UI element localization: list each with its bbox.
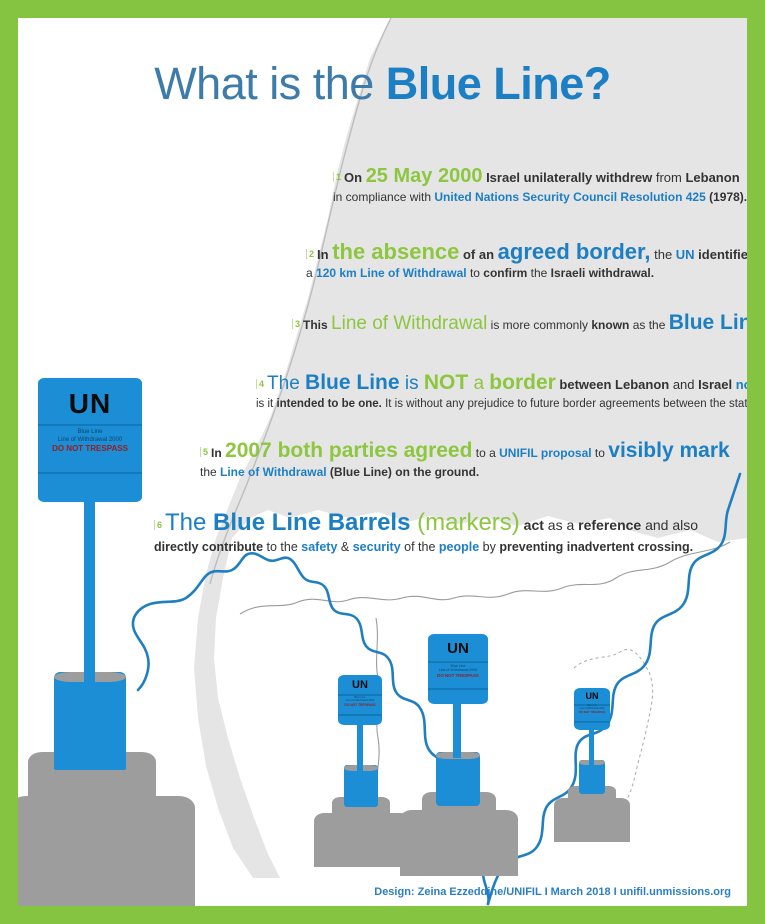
page-title: What is the Blue Line? bbox=[18, 58, 747, 110]
blue-line-barrel-large: UN Blue Line Line of Withdrawal 2000 DO … bbox=[18, 366, 198, 906]
f6g: and also bbox=[641, 517, 698, 533]
f5d: UNIFIL proposal bbox=[499, 446, 591, 460]
fact-2-line-2: a 120 km Line of Withdrawal to confirm t… bbox=[306, 266, 747, 281]
f4d: NOT bbox=[424, 371, 468, 394]
f4j: nor bbox=[732, 377, 747, 392]
fact-number-1: 1 bbox=[333, 172, 341, 182]
f1h: (1978). bbox=[706, 190, 747, 204]
barrel-warning-line-4c: DO NOT TRESPASS bbox=[574, 711, 610, 714]
f1c: Israel unilaterally withdrew bbox=[482, 170, 652, 185]
f2b: the absence bbox=[332, 239, 459, 264]
f5c: to a bbox=[472, 446, 499, 460]
f1b: 25 May 2000 bbox=[366, 165, 483, 187]
f3e: as the bbox=[629, 318, 668, 332]
f3a: This bbox=[303, 318, 331, 332]
f6p: preventing inadvertent crossing. bbox=[499, 540, 693, 554]
barrel-rib-bottom-4 bbox=[574, 721, 610, 723]
blue-line-barrel-small: UN Blue Line Line of Withdrawal 2000 DO … bbox=[308, 673, 408, 873]
f2l: the bbox=[527, 266, 550, 280]
fact-6-line-2: directly contribute to the safety & secu… bbox=[154, 539, 698, 555]
barrel-pole-1 bbox=[84, 486, 95, 682]
fact-number-3: 3 bbox=[292, 319, 300, 329]
barrel-warning-2: Blue Line Line of Withdrawal 2000 DO NOT… bbox=[428, 664, 488, 678]
fact-block-3: 3This Line of Withdrawal is more commonl… bbox=[292, 310, 747, 337]
f4c: is bbox=[400, 373, 424, 394]
f4k: is it bbox=[256, 398, 276, 410]
f2j: to bbox=[467, 266, 484, 280]
barrel-warning-4: Blue Line Line of Withdrawal 2000 DO NOT… bbox=[574, 705, 610, 714]
fact-4-line-2: is it intended to be one. It is without … bbox=[256, 397, 747, 412]
f2m: Israeli withdrawal. bbox=[551, 266, 654, 280]
f5g: the bbox=[200, 465, 220, 479]
f3f: Blue Line. bbox=[669, 311, 747, 334]
barrel-rib-top-2 bbox=[428, 661, 488, 663]
fact-1-line-2: in compliance with United Nations Securi… bbox=[333, 190, 747, 205]
f5i: (Blue Line) bbox=[327, 465, 392, 479]
fact-block-4: 4The Blue Line is NOT a border between L… bbox=[256, 370, 747, 412]
barrel-sign-4: UN Blue Line Line of Withdrawal 2000 DO … bbox=[574, 688, 610, 730]
f6k: & bbox=[337, 540, 352, 554]
barrel-un-text-2: UN bbox=[428, 640, 488, 657]
f2g: identified bbox=[695, 247, 747, 262]
f4l: intended to be one. bbox=[276, 398, 381, 410]
f5e: to bbox=[592, 446, 609, 460]
fact-4-line-1: 4The Blue Line is NOT a border between L… bbox=[256, 370, 747, 397]
f2f: UN bbox=[676, 247, 695, 262]
barrel-pole-3 bbox=[357, 717, 363, 771]
f6d: act bbox=[520, 517, 544, 533]
f3d: known bbox=[591, 318, 629, 332]
f6e: as a bbox=[544, 517, 578, 533]
barrel-warning-3: Blue Line Line of Withdrawal 2000 DO NOT… bbox=[338, 696, 382, 707]
fact-block-2: 2In the absence of an agreed border, the… bbox=[306, 238, 747, 282]
f4e: a bbox=[468, 373, 489, 394]
barrel-warning-line-1b: Line of Withdrawal 2000 bbox=[38, 437, 142, 445]
f2a: In bbox=[317, 247, 332, 262]
f6m: of the bbox=[401, 540, 439, 554]
f2c: of an bbox=[459, 247, 497, 262]
blue-line-barrel-smallest: UN Blue Line Line of Withdrawal 2000 DO … bbox=[546, 686, 636, 856]
f2e: the bbox=[650, 247, 675, 262]
f1e: Lebanon bbox=[685, 170, 739, 185]
f6c: (markers) bbox=[410, 509, 519, 536]
barrel-rib-bottom-2 bbox=[428, 688, 488, 690]
f6i: to the bbox=[263, 540, 301, 554]
barrel-warning-line-3c: DO NOT TRESPASS bbox=[338, 703, 382, 707]
f5f: visibly mark bbox=[608, 439, 729, 462]
fact-number-5: 5 bbox=[200, 447, 208, 457]
barrel-warning-line-1c: DO NOT TRESPASS bbox=[38, 444, 142, 454]
f6b: Blue Line Barrels bbox=[213, 509, 410, 536]
barrel-warning-1: Blue Line Line of Withdrawal 2000 DO NOT… bbox=[38, 429, 142, 454]
barrel-sign-3: UN Blue Line Line of Withdrawal 2000 DO … bbox=[338, 675, 382, 725]
barrel-warning-line-1a: Blue Line bbox=[38, 429, 142, 437]
f4a: The bbox=[267, 373, 305, 394]
barrel-rib-bottom-1 bbox=[38, 472, 142, 474]
f6l: security bbox=[353, 540, 401, 554]
f1a: On bbox=[344, 170, 366, 185]
barrel-un-text-1: UN bbox=[38, 388, 142, 420]
f2k: confirm bbox=[483, 266, 527, 280]
credit-footer: Design: Zeina Ezzeddine/UNIFIL I March 2… bbox=[374, 886, 731, 898]
f5a: In bbox=[211, 446, 225, 460]
fact-5-line-2: the Line of Withdrawal (Blue Line) on th… bbox=[200, 465, 730, 480]
barrel-drum-base-2 bbox=[436, 752, 480, 806]
f5j: on the ground. bbox=[392, 465, 479, 479]
f6n: people bbox=[439, 540, 479, 554]
fact-3-line-1: 3This Line of Withdrawal is more commonl… bbox=[292, 310, 747, 337]
title-plain: What is the bbox=[154, 58, 386, 109]
f1g: United Nations Security Council Resoluti… bbox=[434, 190, 705, 204]
f6j: safety bbox=[301, 540, 337, 554]
f4f: border bbox=[489, 371, 556, 394]
f4g: between Lebanon bbox=[556, 377, 669, 392]
f4h: and bbox=[669, 377, 698, 392]
fact-block-1: 1On 25 May 2000 Israel unilaterally with… bbox=[333, 164, 747, 205]
f2h: a bbox=[306, 266, 316, 280]
f3b: Line of Withdrawal bbox=[331, 313, 487, 334]
f4m: It is without any prejudice to future bo… bbox=[382, 398, 747, 410]
f2i: 120 km Line of Withdrawal bbox=[316, 266, 467, 280]
barrel-sign-1: UN Blue Line Line of Withdrawal 2000 DO … bbox=[38, 378, 142, 502]
f3c: is more commonly bbox=[487, 318, 591, 332]
f6o: by bbox=[479, 540, 499, 554]
barrel-un-text-3: UN bbox=[338, 679, 382, 691]
f1f: in compliance with bbox=[333, 190, 434, 204]
barrel-drum-base-1 bbox=[54, 672, 126, 770]
infographic-poster: What is the Blue Line? 1On 25 May 2000 I… bbox=[18, 18, 747, 906]
f5h: Line of Withdrawal bbox=[220, 465, 327, 479]
fact-number-2: 2 bbox=[306, 249, 314, 259]
f5b: 2007 both parties agreed bbox=[225, 439, 472, 462]
fact-5-line-1: 5In 2007 both parties agreed to a UNIFIL… bbox=[200, 438, 730, 465]
blue-line-barrel-medium: UN Blue Line Line of Withdrawal 2000 DO … bbox=[394, 628, 524, 878]
barrel-un-text-4: UN bbox=[574, 691, 610, 701]
barrel-warning-line-2c: DO NOT TRESPASS bbox=[428, 673, 488, 679]
fact-2-line-1: 2In the absence of an agreed border, the… bbox=[306, 238, 747, 266]
fact-number-4: 4 bbox=[256, 379, 264, 389]
fact-block-6: 6The Blue Line Barrels (markers) act as … bbox=[154, 508, 698, 555]
barrel-drum-base-3 bbox=[344, 765, 378, 807]
fact-6-line-1: 6The Blue Line Barrels (markers) act as … bbox=[154, 508, 698, 539]
f2d: agreed border, bbox=[498, 239, 651, 264]
fact-block-5: 5In 2007 both parties agreed to a UNIFIL… bbox=[200, 438, 730, 480]
f4b: Blue Line bbox=[305, 371, 400, 394]
barrel-rib-top-1 bbox=[38, 424, 142, 426]
barrel-sign-2: UN Blue Line Line of Withdrawal 2000 DO … bbox=[428, 634, 488, 704]
barrel-rib-bottom-3 bbox=[338, 714, 382, 716]
f6f: reference bbox=[578, 517, 641, 533]
title-bold: Blue Line? bbox=[386, 58, 611, 109]
f1d: from bbox=[652, 170, 685, 185]
fact-1-line-1: 1On 25 May 2000 Israel unilaterally with… bbox=[333, 164, 747, 190]
f4i: Israel bbox=[698, 377, 732, 392]
